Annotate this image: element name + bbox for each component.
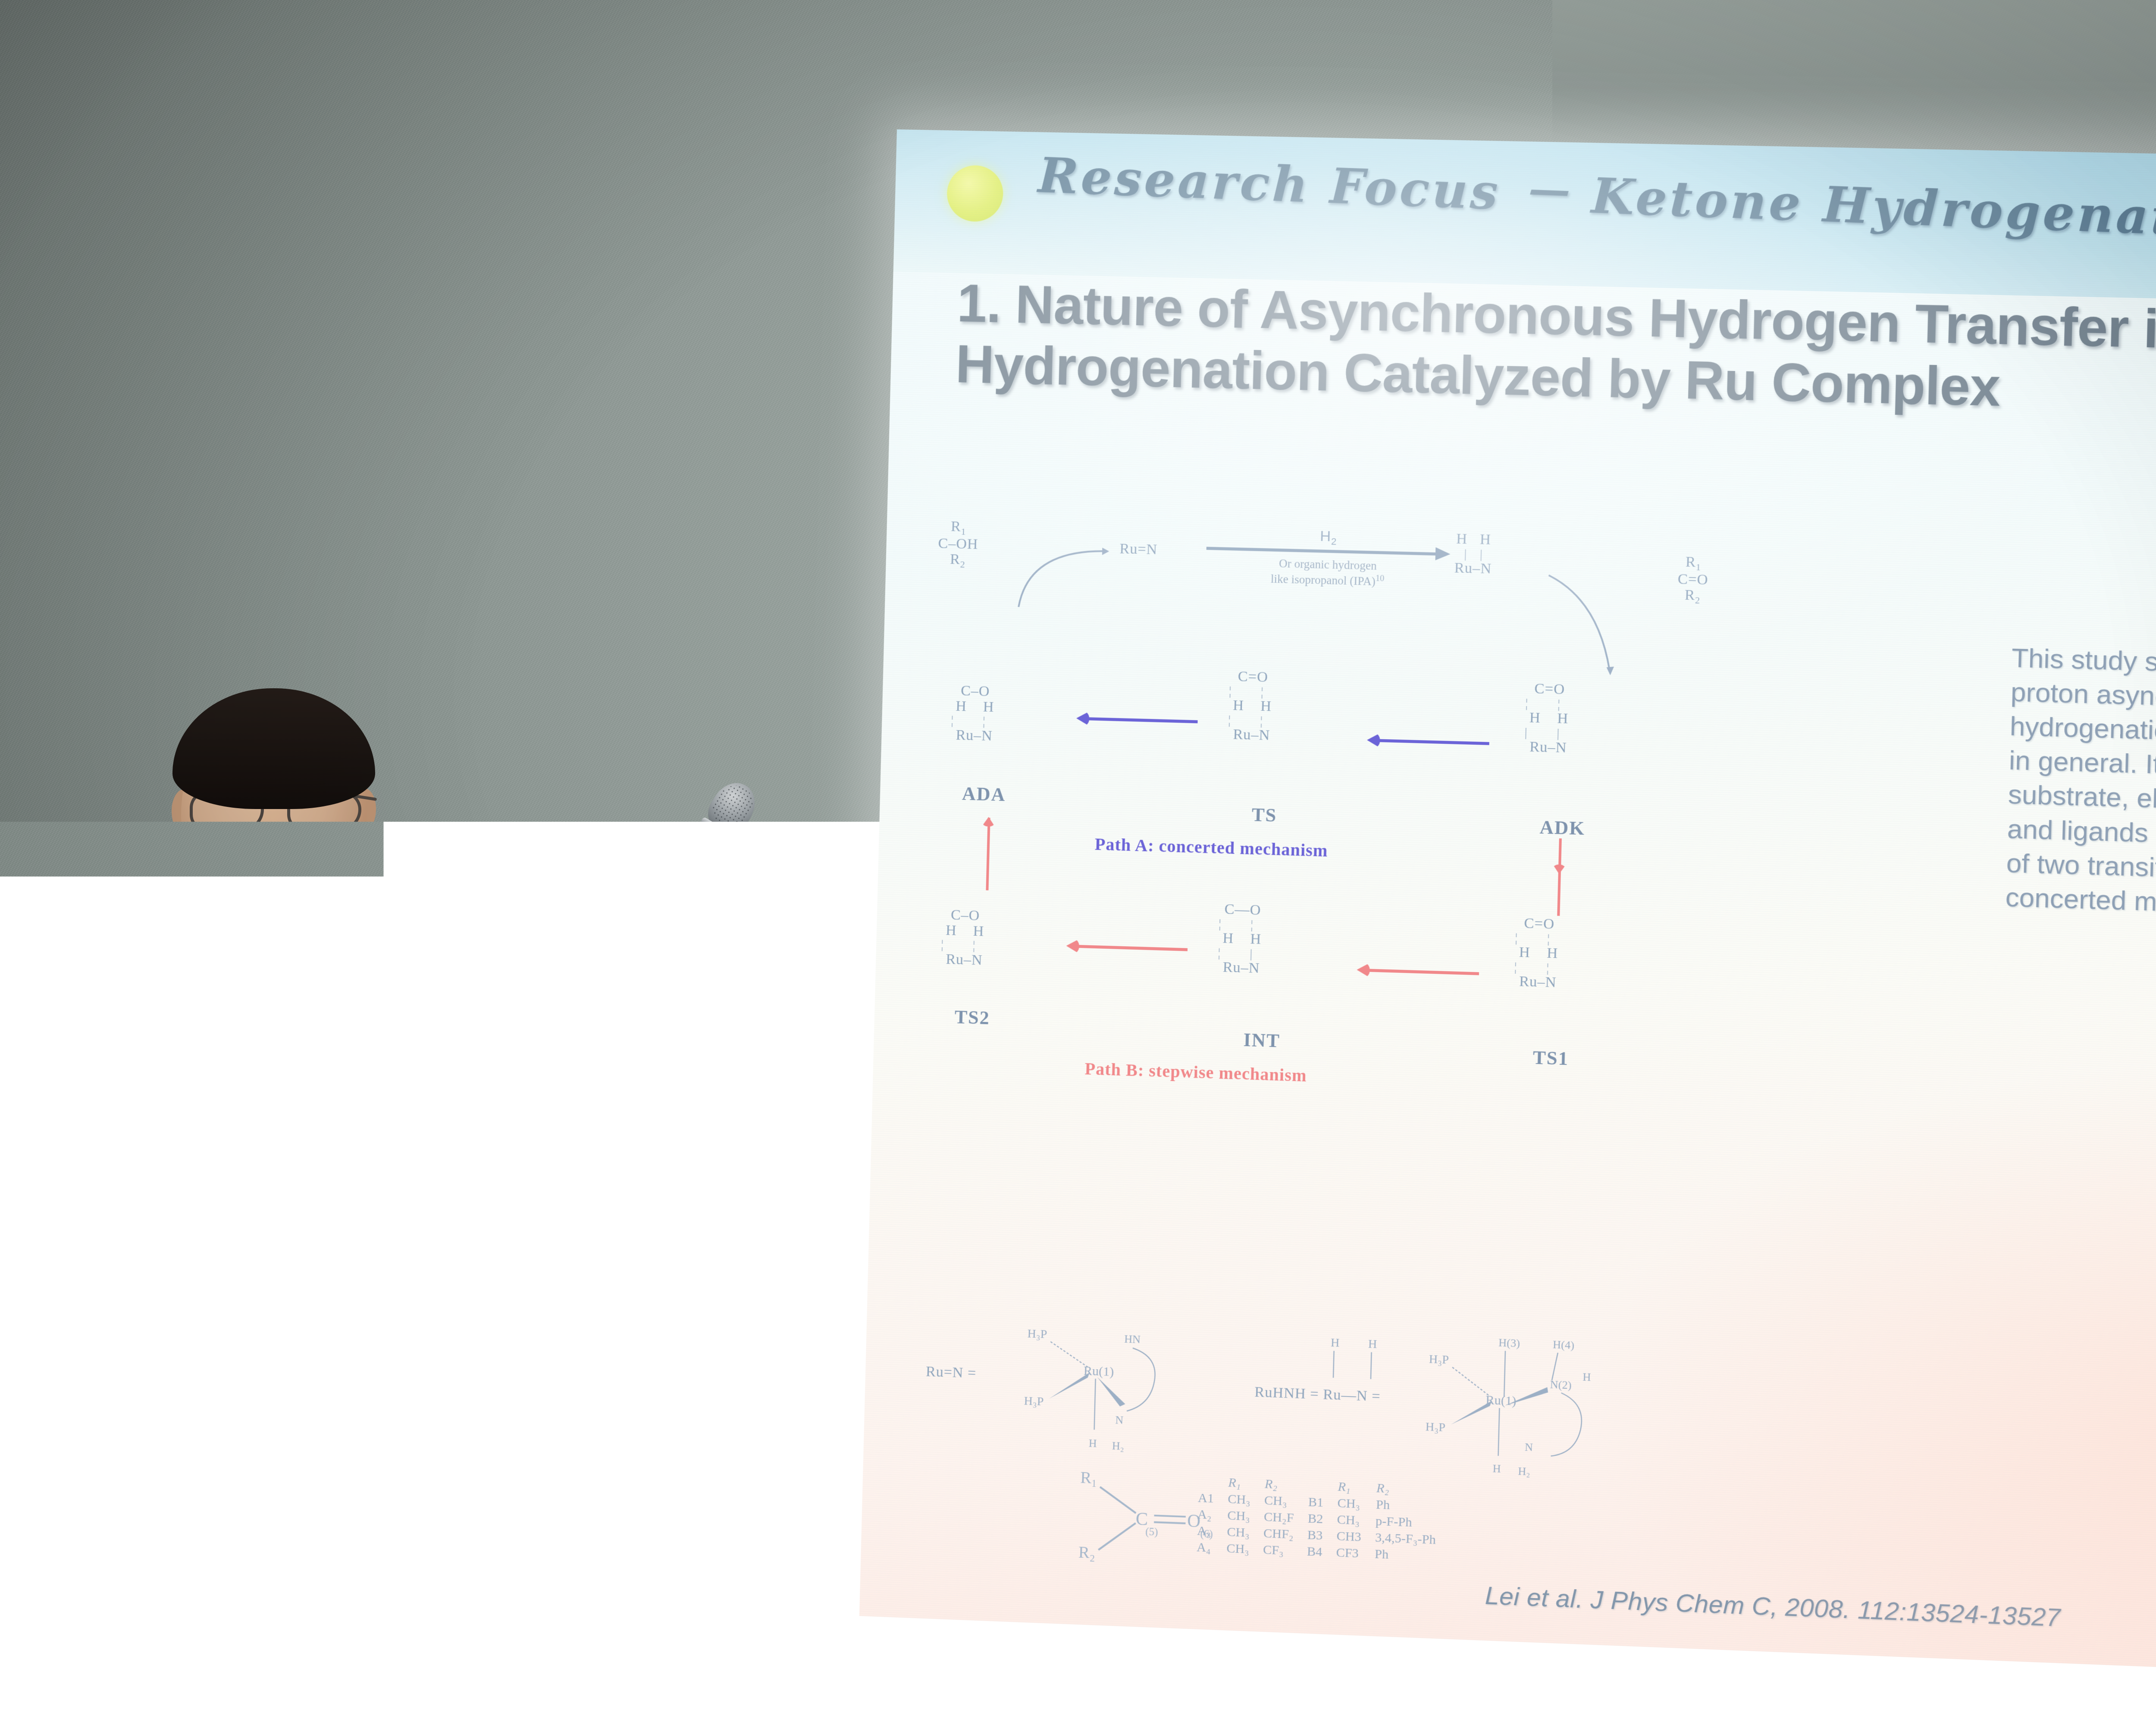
svg-text:H₃P: H₃P [1429,1352,1449,1367]
th-blank-b [1301,1477,1331,1495]
cell: CH₃ [1330,1511,1369,1529]
cell: B4 [1300,1543,1329,1561]
catalyst-ru-n-dihydride: H H | | Ru–N [1454,531,1492,577]
svg-text:R₂: R₂ [1078,1543,1095,1562]
arrow-ts-to-ada [1076,715,1198,724]
label-ADK: ADK [1539,816,1586,839]
svg-text:H(4): H(4) [1553,1338,1575,1352]
lectern-monitor [0,1220,190,1561]
svg-text:H: H [1368,1337,1377,1351]
label-ADA: ADA [962,783,1006,806]
slide-body-text: This study suggest that hydride and prot… [2005,641,2156,929]
cell: CF3 [1329,1544,1368,1562]
gooseneck-mic-capsule [303,1337,323,1374]
hydride-labels-1: H H [1245,1324,1404,1437]
structure-INT: C—O ¦ ¦ H H ¦ | Ru–N [1217,901,1267,976]
arrow-int-to-ts2 [1066,943,1188,953]
cell: CF₃ [1256,1541,1300,1559]
cell: CH₃ [1220,1524,1257,1541]
arrow-adk-to-ts1 [1556,838,1563,925]
label-TS1: TS1 [1532,1047,1569,1070]
ru-complex-structure-2: H(3) H(4) H₃P H₃P Ru(1) N(2) H N H [1418,1330,1623,1485]
svg-text:HN: HN [1124,1333,1141,1345]
cell: A₄ [1190,1539,1220,1556]
cell: B1 [1301,1494,1331,1512]
svg-text:H: H [1583,1371,1591,1383]
cell: A₂ [1191,1506,1221,1524]
cell: CH₃ [1330,1495,1369,1513]
substrate-alcohol: R1 C–OH R2 [937,519,979,570]
reagent-label: H2 Or organic hydrogen like isopropanol … [1206,525,1451,590]
svg-text:H: H [1331,1336,1340,1350]
path-b-label: Path B: stepwise mechanism [1084,1058,1307,1086]
presentation-slide: Research Focus － Ketone Hydrogenation UN… [859,129,2156,1681]
svg-text:H₂: H₂ [1518,1465,1530,1478]
svg-text:H₃P: H₃P [1425,1420,1445,1434]
cell: A1 [1191,1490,1221,1507]
slide-citation: Lei et al. J Phys Chem C, 2008. 112:1352… [1485,1581,2156,1649]
header-bullet-icon [946,165,1004,222]
cell: Ph [1369,1496,1444,1516]
th-r2-b: R₂ [1369,1480,1444,1499]
monitor-screen[interactable] [0,1214,191,1539]
slide-title: 1. Nature of Asynchronous Hydrogen Trans… [955,273,2156,428]
structure-ADK: C=O ¦ ¦ H H | | Ru–N [1524,681,1574,756]
label-TS: TS [1251,803,1277,826]
arrow-ts1-to-int [1357,967,1479,977]
svg-text:Ru(1): Ru(1) [1485,1393,1517,1408]
cell: CH₃ [1219,1540,1257,1558]
cell: CH₃ [1221,1491,1258,1509]
cell: CHF₂ [1257,1525,1301,1543]
cell: CH₃ [1257,1492,1301,1510]
svg-text:H: H [1088,1437,1097,1450]
svg-text:R₁: R₁ [1080,1469,1097,1488]
structure-ADA: C–O H H ¦ ¦ Ru–N [950,683,999,744]
substituent-table-grid: R₁ R₂ R₁ R₂ A1 CH₃ CH₃ B1 CH₃ Ph [1190,1473,1445,1565]
cell: 3,4,5-F₃-Ph [1368,1529,1443,1549]
nose [440,845,477,897]
substituent-table: R₁ R₂ R₁ R₂ A1 CH₃ CH₃ B1 CH₃ Ph [1190,1473,1445,1565]
cell: CH₂F [1257,1509,1301,1527]
curved-arrow-left [1014,533,1120,614]
cell: A₃ [1190,1522,1220,1540]
svg-text:N(2): N(2) [1550,1378,1572,1392]
structure-TS1: C=O ¦ ¦ H H ¦ ¦ Ru–N [1514,916,1564,991]
label-INT: INT [1243,1029,1280,1052]
svg-text:H₃P: H₃P [1024,1394,1044,1408]
projection-screen: Research Focus － Ketone Hydrogenation UN… [859,129,2156,1681]
ceiling-shadow [1552,0,2156,147]
th-blank-a [1191,1473,1221,1491]
slide-header-title: Research Focus － Ketone Hydrogenation [1037,136,2156,257]
lectern-badge-mark: ⌁ [373,1623,383,1646]
th-r1-a: R₁ [1221,1474,1258,1492]
structure-TS: C=O ¦ ¦ H H ¦ ¦ Ru–N [1228,669,1277,744]
reagent-note-2: like isopropanol (IPA) [1271,572,1376,588]
th-r2-a: R₂ [1257,1476,1302,1494]
svg-text:N: N [1115,1414,1124,1427]
svg-text:N: N [1525,1441,1533,1454]
reagent-note-1: Or organic hydrogen [1279,557,1377,572]
arrow-adk-to-ts [1367,737,1489,746]
cell: CH3 [1329,1528,1369,1546]
ru-complex-structure-1: H₃P H₃P Ru(1) HN N H H₂ [1016,1320,1202,1469]
cell: p-F-Ph [1369,1513,1444,1532]
svg-text:(5): (5) [1145,1526,1158,1538]
svg-text:H(3): H(3) [1498,1336,1520,1350]
catalyst-ru-n-left: Ru=N [1119,541,1158,558]
cell: B3 [1300,1527,1330,1544]
teeth [431,903,493,916]
cell: B2 [1300,1510,1330,1528]
arrow-ts2-to-ada [984,818,991,900]
svg-text:H₃P: H₃P [1027,1327,1047,1341]
product-ketone: R1 C=O R2 [1677,554,1709,605]
cell: CH₃ [1220,1507,1257,1525]
svg-text:H: H [1492,1462,1501,1475]
lecture-scene: Research Focus － Ketone Hydrogenation UN… [0,0,2156,1725]
svg-text:H₂: H₂ [1112,1440,1125,1452]
cell: Ph [1368,1546,1443,1565]
hair [172,688,375,809]
cup-highlight [176,1499,199,1534]
lectern: ⌁ [0,1535,517,1725]
th-r1-b: R₁ [1331,1478,1370,1496]
label-TS2: TS2 [954,1006,990,1029]
path-a-label: Path A: concerted mechanism [1094,834,1328,861]
curved-arrow-right [1544,573,1678,681]
